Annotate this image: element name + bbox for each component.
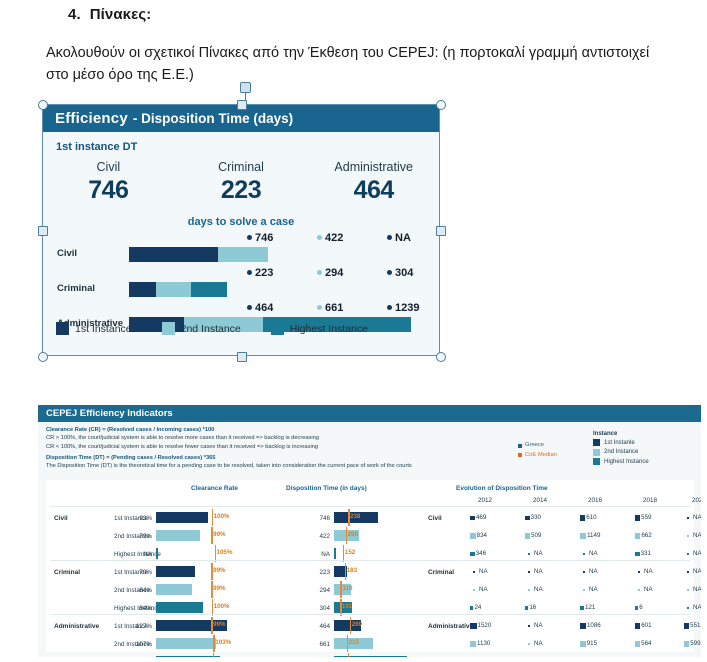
kpi-row: Civil 746 Criminal 223 Administrative 46… [42,160,440,205]
clearance-rate-bar [156,530,200,541]
evolution-null-dot-icon [638,589,640,591]
evolution-value: 564 [641,640,651,647]
evolution-null-dot-icon [687,517,689,519]
clearance-median-value: 99% [213,585,225,592]
clearance-rate-value: 84% [128,605,152,612]
series-legend-swatch-icon [518,444,522,448]
evolution-value: NA [644,586,653,593]
kpi-criminal: Criminal 223 [175,160,308,205]
resize-handle-top-left[interactable] [38,100,48,110]
bar-segment [191,282,227,297]
evolution-value: 24 [474,604,481,611]
evolution-value: 1130 [477,640,490,647]
definition-line: CR > 100%, the court/judicial system is … [46,434,526,442]
evolution-category-label: Criminal [428,569,454,576]
evolution-square-icon [684,623,689,628]
evolution-value: NA [534,640,543,647]
legend-swatch-icon [56,322,69,335]
evolution-null-dot-icon [583,589,585,591]
evolution-square-icon [580,623,586,629]
evolution-square-icon [580,533,586,539]
row-separator [50,560,690,561]
evolution-null-dot-icon [528,553,530,555]
clearance-rate-bar [156,638,216,649]
clearance-rate-column-header: Clearance Rate [191,485,238,492]
disposition-time-value: 294 [308,587,330,594]
year-header-2016: 2016 [588,497,602,504]
legend-label: 2nd Instance [181,323,241,335]
series-legend-item: CoE Median [518,451,557,461]
value-dot-icon [387,235,392,240]
value-dot-icon [317,270,322,275]
evolution-square-icon [470,533,476,539]
kpi-civil-label: Civil [42,160,175,174]
evolution-square-icon [580,515,585,520]
instance-legend-item: 1st Instanle [593,439,649,446]
kpi-civil-value: 746 [42,176,175,205]
evolution-null-dot-icon [528,643,530,645]
evolution-null-dot-icon [687,571,689,573]
value-dot-icon [317,235,322,240]
heading-text: Πίνακες: [90,6,152,23]
clearance-median-value: 105% [217,549,233,556]
evolution-square-icon [580,641,586,647]
evolution-value: NA [693,604,701,611]
resize-handle-top-right[interactable] [436,100,446,110]
disposition-time-value: 464 [308,623,330,630]
evolution-null-dot-icon [528,625,530,627]
evolution-value: NA [479,586,488,593]
evolution-square-icon [635,606,638,609]
bar-value-label: 746 [247,232,273,244]
evolution-square-icon [635,515,640,520]
evolution-value: 1149 [587,532,600,539]
evolution-column-header: Evolution of Disposition Time [456,485,548,492]
evolution-square-icon [525,516,530,521]
stacked-bar [129,282,227,297]
evolution-value: 599 [690,640,700,647]
evolution-category-label: Administrative [428,623,473,630]
value-dot-icon [387,305,392,310]
legend-item: 2nd Instance [162,322,241,335]
evolution-value: NA [693,586,701,593]
instance-legend: Instance 1st Instanle2nd InstanceHighest… [593,431,649,468]
evolution-null-dot-icon [528,571,530,573]
bar-segment [129,282,156,297]
resize-handle-bottom-left[interactable] [38,352,48,362]
bar-value-label: 422 [317,232,343,244]
year-header-2014: 2014 [533,497,547,504]
clearance-rate-bar [156,602,203,613]
kpi-criminal-value: 223 [175,176,308,205]
instance-legend-swatch-icon [593,449,600,456]
instance-legend-swatch-icon [593,458,600,465]
bar-value-label: 223 [247,267,273,279]
kpi-civil: Civil 746 [42,160,175,205]
clearance-rate-value: 70% [128,569,152,576]
evolution-value: NA [534,586,543,593]
evolution-null-dot-icon [473,571,475,573]
clearance-rate-bar [156,512,208,523]
evolution-value: NA [644,568,653,575]
instance-legend-label: 1st Instanle [604,440,635,446]
kpi-administrative: Administrative 464 [307,160,440,205]
disposition-median-value: 183 [347,567,357,574]
clearance-median-value: 99% [213,567,225,574]
clearance-rate-value: 64% [128,587,152,594]
clearance-rate-bar [156,584,192,595]
row-separator [50,506,690,507]
kpi-administrative-value: 464 [307,176,440,205]
year-header-2012: 2012 [478,497,492,504]
evolution-null-dot-icon [687,535,689,537]
disposition-time-value: 746 [308,515,330,522]
legend-item: Highest Instance [271,322,368,335]
series-legend-label: Greece [525,441,544,451]
instance-legend-label: 2nd Instance [604,449,638,455]
evolution-value: 346 [476,550,486,557]
evolution-value: 559 [641,514,651,521]
rotate-handle[interactable] [240,82,251,93]
evolution-value: NA [479,568,488,575]
resize-handle-bottom-right[interactable] [436,352,446,362]
bar-value-label: 661 [317,302,343,314]
disposition-time-value: 422 [308,533,330,540]
clearance-median-value: 99% [213,621,225,628]
evolution-square-icon [684,641,689,646]
clearance-median-value: 100% [214,603,230,610]
intro-paragraph: Ακολουθούν οι σχετικοί Πίνακες από την Έ… [46,42,666,86]
page-heading: 4.Πίνακες: [68,6,151,23]
evolution-square-icon [470,623,477,630]
definition-line: CR < 100%, the court/judicial system is … [46,443,526,451]
clearance-median-value: 100% [214,513,230,520]
bar-value-labels: 223294304 [129,267,429,282]
cepej-table: Clearance RateDisposition Time (in days)… [46,480,694,652]
clearance-rate-value: 79% [128,533,152,540]
bar-value-label: 294 [317,267,343,279]
evolution-value: 6 [639,604,642,611]
clearance-rate-value: 127% [128,623,152,630]
evolution-value: 551 [690,622,700,629]
instance-legend-item: 2nd Instance [593,449,649,456]
resize-handle-top-center[interactable] [237,100,247,110]
bar-value-label: 1239 [387,302,419,314]
series-legend-label: CoE Median [525,451,557,461]
category-label-administrative: Administrative [54,623,99,630]
evolution-value: NA [693,514,701,521]
evolution-square-icon [470,516,475,521]
bar-value-labels: 4646611239 [129,302,429,317]
clearance-rate-value: 107% [128,641,152,648]
disposition-median-value: 269 [352,621,362,628]
disposition-median-value: 200 [348,531,358,538]
evolution-value: NA [534,550,543,557]
evolution-value: 16 [529,604,536,611]
evolution-value: NA [534,622,543,629]
category-label-civil: Civil [54,515,68,522]
instance-legend-title: Instance [593,431,649,437]
legend-swatch-icon [271,322,284,335]
evolution-null-dot-icon [638,571,640,573]
evolution-value: 610 [586,514,596,521]
clearance-rate-bar-empty [156,548,158,559]
evolution-null-dot-icon [687,553,689,555]
disposition-median-value: 215 [349,639,359,646]
evolution-square-icon [635,552,640,557]
row-separator [50,614,690,615]
evolution-square-icon [580,606,584,610]
evolution-square-icon [635,533,640,538]
evolution-value: NA [589,568,598,575]
resize-handle-bottom-center[interactable] [237,352,247,362]
legend-label: Highest Instance [290,323,368,335]
kpi-administrative-label: Administrative [307,160,440,174]
cepej-header: CEPEJ Efficiency Indicators [38,405,701,422]
evolution-null-dot-icon [687,589,689,591]
bar-value-label: 464 [247,302,273,314]
evolution-value: NA [589,586,598,593]
evolution-value: 469 [476,514,486,521]
value-dot-icon [247,270,252,275]
resize-handle-middle-right[interactable] [436,226,446,236]
clearance-rate-value: 93% [128,515,152,522]
evolution-null-dot-icon [583,553,585,555]
evolution-null-dot-icon [473,589,475,591]
clearance-median-value: 99% [213,531,225,538]
evolution-square-icon [525,533,530,538]
evolution-value: 1086 [587,622,601,629]
bar-value-label: 304 [387,267,413,279]
evolution-value: NA [589,550,598,557]
instance-legend-label: Highest Instance [604,459,649,465]
disposition-time-value: NA [308,551,330,558]
bar-value-labels: 746422NA [129,232,429,247]
evolution-null-dot-icon [528,589,530,591]
resize-handle-middle-left[interactable] [38,226,48,236]
efficiency-title-bold: Efficiency [55,110,128,127]
evolution-value: 601 [641,622,651,629]
category-label-criminal: Criminal [54,569,80,576]
bar-value-label: NA [387,232,411,244]
evolution-square-icon [635,641,640,646]
disposition-time-bar-empty [334,548,336,559]
bar-segment [218,247,268,262]
evolution-square-icon [470,552,475,557]
disposition-median-value: 101 [342,603,352,610]
instance-legend-swatch-icon [593,439,600,446]
evolution-value: 121 [585,604,595,611]
evolution-value: NA [693,550,701,557]
year-header-2020: 2020 [692,497,701,504]
efficiency-card-image[interactable]: Efficiency - Disposition Time (days) 1st… [42,104,440,356]
value-dot-icon [317,305,322,310]
series-legend-swatch-icon [518,453,522,457]
definition-line: Clearance Rate (CR) = (Resolved cases / … [46,426,526,434]
days-to-solve-note: days to solve a case [42,216,440,228]
bar-row: Criminal223294304 [42,267,440,302]
evolution-value: 509 [531,532,541,539]
series-legend: GreeceCoE Median [518,441,557,460]
kpi-criminal-label: Criminal [175,160,308,174]
stacked-bar-chart: Civil746422NACriminal223294304Administra… [42,232,440,356]
evolution-value: NA [693,532,701,539]
evolution-square-icon [525,606,528,609]
clearance-rate-bar [156,656,220,657]
heading-number: 4. [68,6,81,23]
legend-swatch-icon [162,322,175,335]
bar-row: Civil746422NA [42,232,440,267]
definition-line: Disposition Time (DT) = (Pending cases /… [46,454,526,462]
definition-line: The Disposition Time (DT) is the theoret… [46,462,526,470]
evolution-value: 834 [477,532,487,539]
disposition-time-bar [334,656,407,657]
evolution-value: 662 [641,532,651,539]
evolution-null-dot-icon [687,607,689,609]
evolution-value: NA [693,568,701,575]
legend-item: 1st Instance [56,322,132,335]
disposition-time-value: 304 [308,605,330,612]
evolution-null-dot-icon [583,571,585,573]
stacked-bar [129,247,268,262]
cepej-dashboard-image[interactable]: CEPEJ Efficiency Indicators Clearance Ra… [38,405,701,657]
efficiency-legend: 1st Instance2nd InstanceHighest Instance [56,322,426,335]
efficiency-title-rest: - Disposition Time (days) [133,111,293,126]
legend-label: 1st Instance [75,323,132,335]
series-legend-item: Greece [518,441,557,451]
disposition-time-column-header: Disposition Time (in days) [286,485,367,492]
bar-row-label: Civil [57,248,77,259]
value-dot-icon [247,305,252,310]
evolution-value: 331 [641,550,651,557]
evolution-category-label: Civil [428,515,442,522]
evolution-square-icon [470,606,473,609]
evolution-value: 330 [531,514,541,521]
disposition-median-value: 152 [345,549,355,556]
clearance-rate-bar [156,566,195,577]
disposition-time-value: 223 [308,569,330,576]
value-dot-icon [387,270,392,275]
value-dot-icon [247,235,252,240]
disposition-median-value: 238 [350,513,360,520]
evolution-square-icon [635,623,640,628]
disposition-median-value: 110 [342,585,352,592]
evolution-value: 1520 [478,622,492,629]
clearance-median-value: 103% [215,639,231,646]
clearance-rate-value: NA [128,551,152,558]
evolution-square-icon [470,641,476,647]
bar-row-label: Criminal [57,283,95,294]
first-instance-dt-label: 1st instance DT [56,141,137,153]
bar-segment [156,282,191,297]
disposition-time-value: 661 [308,641,330,648]
year-header-2018: 2018 [643,497,657,504]
cepej-definitions: Clearance Rate (CR) = (Resolved cases / … [46,426,526,471]
instance-legend-item: Highest Instance [593,458,649,465]
evolution-value: NA [534,568,543,575]
bar-segment [129,247,218,262]
evolution-value: 915 [587,640,597,647]
